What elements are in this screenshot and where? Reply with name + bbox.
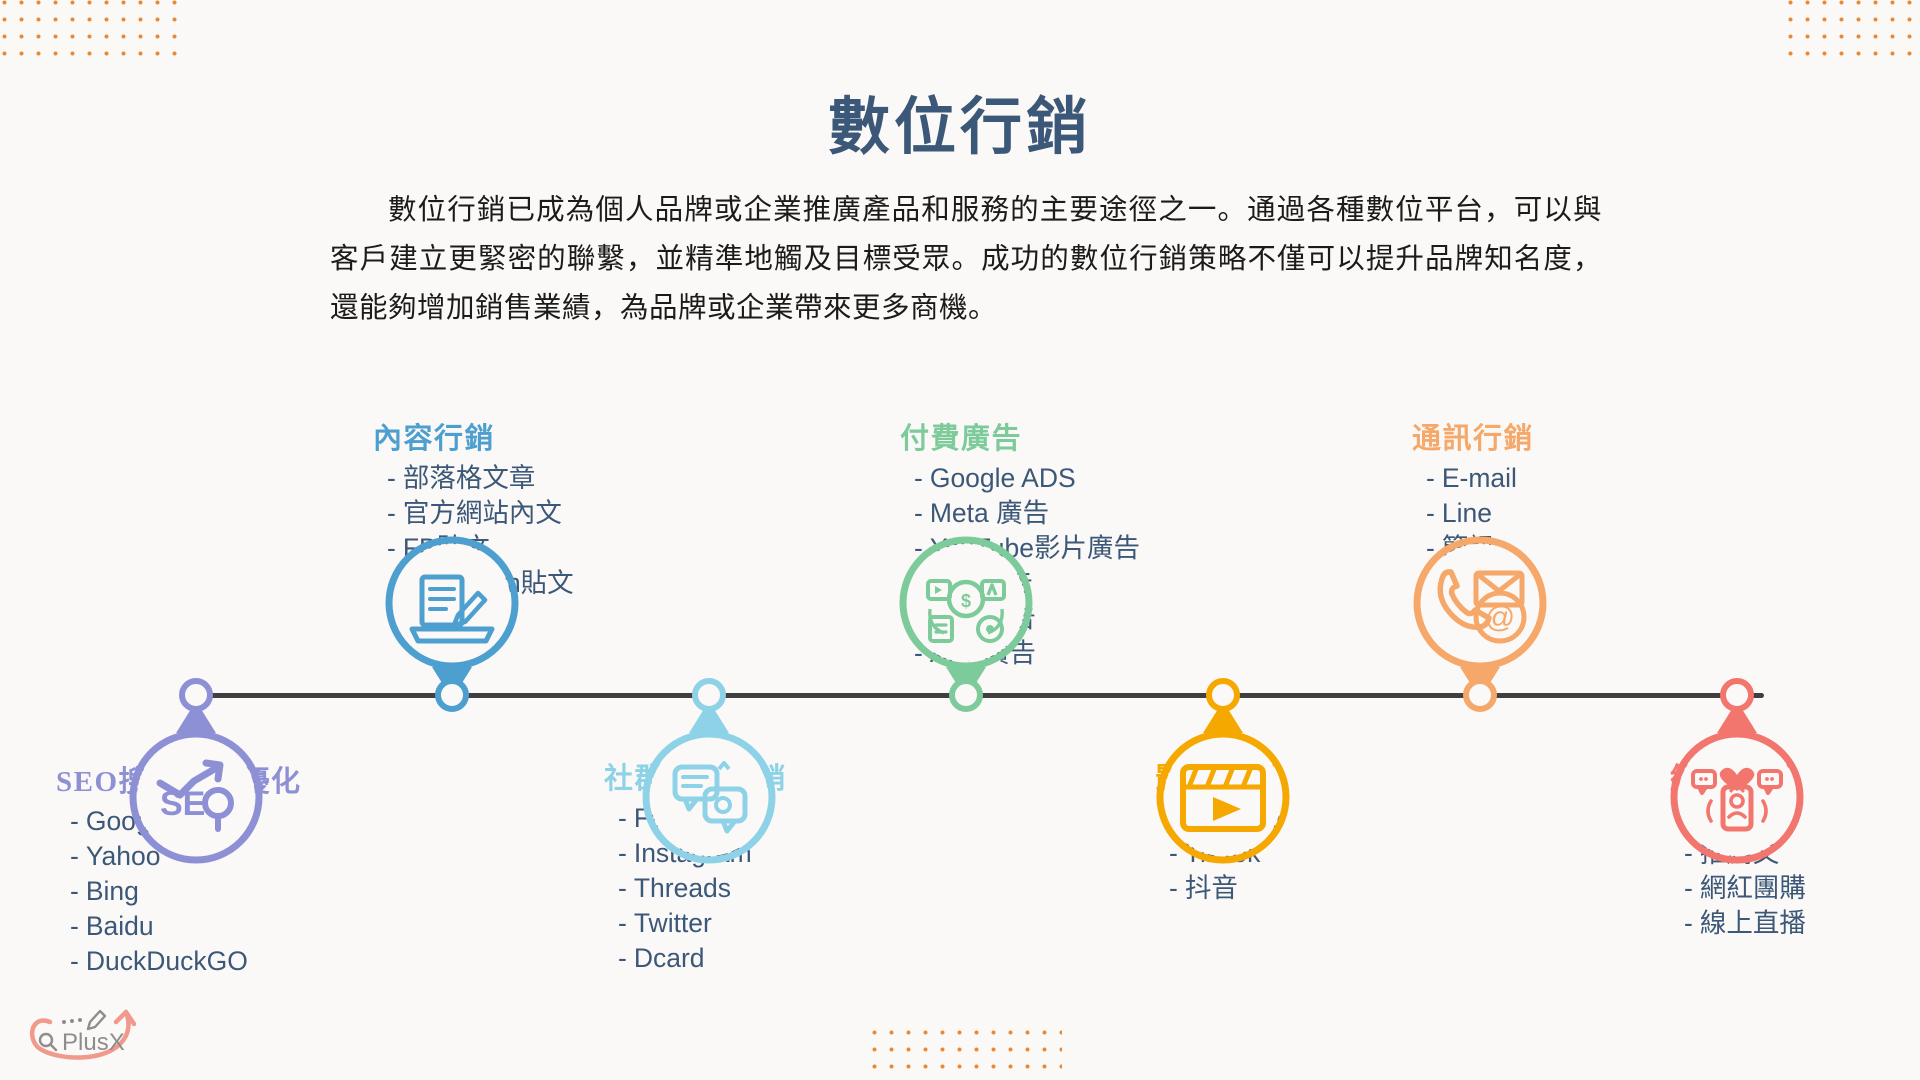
- list-item-label: DuckDuckGO: [86, 946, 248, 976]
- plusx-logo: PlusX: [16, 988, 156, 1066]
- bullet-dash: -: [618, 803, 627, 833]
- bullet-dash: -: [387, 498, 396, 528]
- list-item-label: Meta 廣告: [930, 498, 1049, 528]
- timeline-node-paid[interactable]: [949, 678, 983, 712]
- bullet-dash: -: [1426, 463, 1435, 493]
- bullet-dash: -: [70, 876, 79, 906]
- list-item: -Twitter: [618, 906, 787, 941]
- intro-paragraph: 數位行銷已成為個人品牌或企業推廣產品和服務的主要途徑之一。通過各種數位平台，可以…: [330, 186, 1602, 333]
- bullet-dash: -: [70, 806, 79, 836]
- bullet-dash: -: [618, 873, 627, 903]
- section-heading-paid: 付費廣告: [900, 415, 1140, 457]
- list-item: -Bing: [70, 874, 302, 909]
- svg-text:SE: SE: [160, 785, 205, 823]
- list-item-label: Dcard: [634, 943, 705, 973]
- section-heading-content: 內容行銷: [373, 415, 574, 457]
- bullet-dash: -: [1426, 498, 1435, 528]
- section-heading-comm: 通訊行銷: [1412, 415, 1534, 457]
- list-item-label: 抖音: [1185, 873, 1238, 903]
- timeline-node-seo[interactable]: [179, 678, 213, 712]
- list-item: -Dcard: [618, 941, 787, 976]
- list-item: -抖音: [1169, 871, 1281, 906]
- bullet-dash: -: [618, 908, 627, 938]
- list-item-label: Baidu: [86, 911, 154, 941]
- dot-pattern-top-left: [0, 0, 184, 56]
- list-item-label: 官方網站內文: [403, 498, 562, 528]
- timeline-node-comm[interactable]: [1463, 678, 1497, 712]
- pin-shape-social: [646, 701, 772, 860]
- list-item: -部落格文章: [387, 461, 574, 496]
- list-item-label: 部落格文章: [403, 463, 536, 493]
- list-item-label: Threads: [634, 873, 731, 903]
- list-item: -E-mail: [1426, 461, 1534, 496]
- list-item-label: Twitter: [634, 908, 712, 938]
- pin-shape-video: [1160, 701, 1286, 860]
- bullet-dash: -: [387, 463, 396, 493]
- pin-shape-content: [389, 540, 515, 699]
- list-item: -Baidu: [70, 909, 302, 944]
- bullet-dash: -: [70, 841, 79, 871]
- list-item: -Meta 廣告: [914, 496, 1140, 531]
- timeline-node-kol[interactable]: [1720, 678, 1754, 712]
- bullet-dash: -: [914, 463, 923, 493]
- bullet-dash: -: [1684, 873, 1693, 903]
- infographic-canvas: 數位行銷 數位行銷已成為個人品牌或企業推廣產品和服務的主要途徑之一。通過各種數位…: [0, 0, 1920, 1080]
- list-item-label: E-mail: [1442, 463, 1517, 493]
- bullet-dash: -: [618, 943, 627, 973]
- list-item-label: Line: [1442, 498, 1492, 528]
- logo-text: PlusX: [62, 1029, 125, 1056]
- pin-video[interactable]: [1152, 697, 1294, 865]
- list-item: -DuckDuckGO: [70, 944, 302, 979]
- list-item: -Line: [1426, 496, 1534, 531]
- list-item: -Threads: [618, 871, 787, 906]
- bullet-dash: -: [1169, 873, 1178, 903]
- pin-shape-paid: [903, 540, 1029, 699]
- list-item-label: Bing: [86, 876, 139, 906]
- list-item-label: Google ADS: [930, 463, 1076, 493]
- timeline-node-social[interactable]: [692, 678, 726, 712]
- bullet-dash: -: [618, 838, 627, 868]
- pin-kol[interactable]: [1666, 697, 1808, 865]
- timeline-node-content[interactable]: [435, 678, 469, 712]
- list-item-label: 網紅團購: [1700, 873, 1806, 903]
- timeline-node-video[interactable]: [1206, 678, 1240, 712]
- dot-pattern-bottom-center: [866, 1024, 1062, 1072]
- svg-text:$: $: [961, 591, 971, 611]
- dot-pattern-top-right: [1782, 0, 1918, 56]
- bullet-dash: -: [70, 946, 79, 976]
- list-item: -線上直播: [1684, 906, 1806, 941]
- pin-social[interactable]: [638, 697, 780, 865]
- bullet-dash: -: [70, 911, 79, 941]
- pin-seo[interactable]: SE: [125, 697, 267, 865]
- list-item: -Google ADS: [914, 461, 1140, 496]
- list-item: -網紅團購: [1684, 871, 1806, 906]
- list-item-label: 線上直播: [1700, 908, 1806, 938]
- bullet-dash: -: [914, 498, 923, 528]
- page-title: 數位行銷: [0, 76, 1920, 166]
- bullet-dash: -: [1684, 908, 1693, 938]
- list-item: -官方網站內文: [387, 496, 574, 531]
